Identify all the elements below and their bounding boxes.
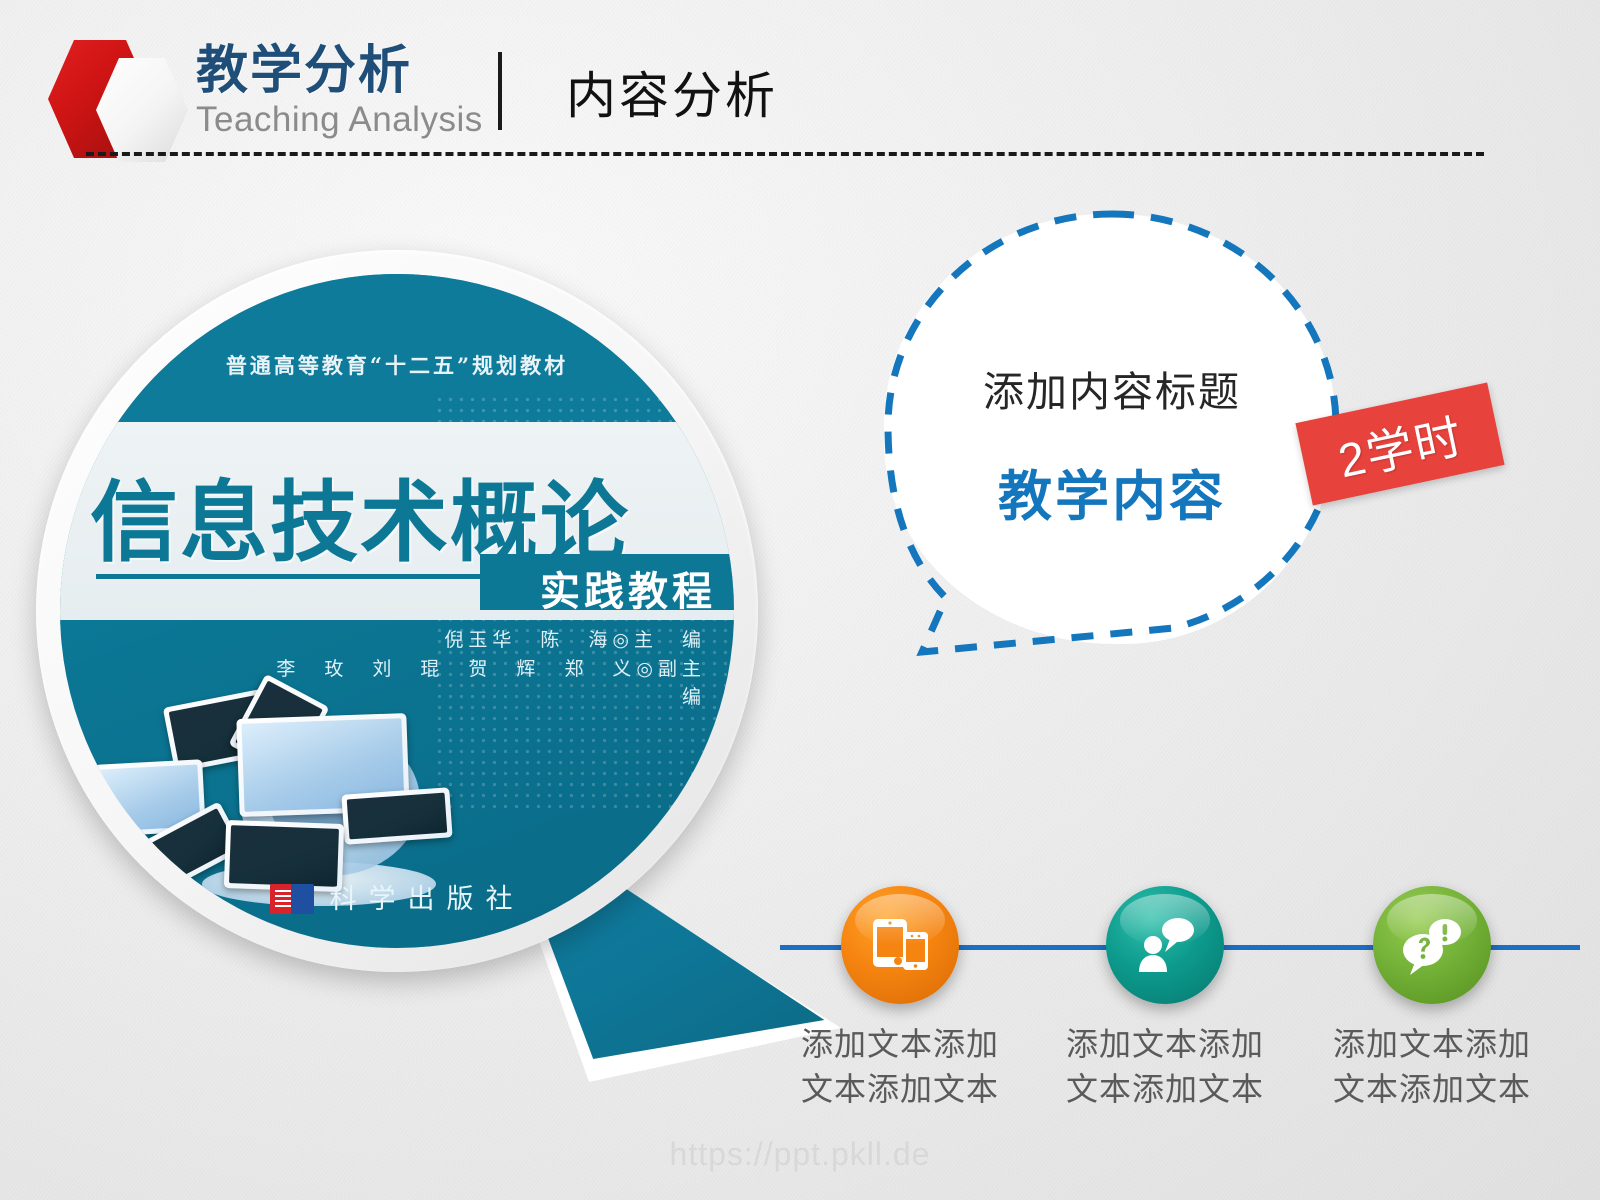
feature-label-1-line1: 添加文本添加 bbox=[780, 1022, 1020, 1067]
bubble-main-text: 教学内容 bbox=[862, 452, 1362, 531]
question-exclaim-bubbles-icon[interactable] bbox=[1373, 886, 1491, 1004]
slide-canvas: 教学分析 Teaching Analysis 内容分析 普通高等教育“十二五”规… bbox=[0, 0, 1600, 1200]
hours-badge-label: 2学时 bbox=[1331, 397, 1469, 491]
book-publisher: 科学出版社 bbox=[330, 884, 525, 915]
cover-artwork bbox=[90, 674, 520, 904]
book-cover-image: 普通高等教育“十二五”规划教材 信息技术概论 实践教程 倪玉华 陈 海◎主 编 … bbox=[60, 274, 734, 948]
brand-title-en: Teaching Analysis bbox=[196, 101, 483, 140]
devices-icon[interactable] bbox=[841, 886, 959, 1004]
person-speech-glyph bbox=[1132, 912, 1198, 978]
feature-label-3-line1: 添加文本添加 bbox=[1312, 1022, 1552, 1067]
slide-header: 教学分析 Teaching Analysis 内容分析 bbox=[0, 0, 1600, 170]
header-divider bbox=[498, 52, 502, 130]
feature-item-3[interactable]: 添加文本添加 文本添加文本 bbox=[1312, 886, 1552, 1113]
feature-item-2[interactable]: 添加文本添加 文本添加文本 bbox=[1045, 886, 1285, 1113]
page-title: 内容分析 bbox=[566, 56, 778, 128]
watermark: https://ppt.pkll.de bbox=[0, 1136, 1600, 1173]
book-bubble: 普通高等教育“十二五”规划教材 信息技术概论 实践教程 倪玉华 陈 海◎主 编 … bbox=[36, 250, 798, 1012]
feature-label-3-line2: 文本添加文本 bbox=[1312, 1067, 1552, 1112]
question-exclaim-glyph bbox=[1397, 912, 1467, 978]
brand-block: 教学分析 Teaching Analysis bbox=[196, 44, 483, 139]
feature-label-1: 添加文本添加 文本添加文本 bbox=[780, 1022, 1020, 1113]
bubble-dashed-outline bbox=[862, 200, 1362, 680]
tablet-icon bbox=[341, 787, 452, 844]
person-speech-icon[interactable] bbox=[1106, 886, 1224, 1004]
publisher-logo-icon bbox=[270, 884, 314, 914]
feature-label-3: 添加文本添加 文本添加文本 bbox=[1312, 1022, 1552, 1113]
book-cover-bg: 普通高等教育“十二五”规划教材 信息技术概论 实践教程 倪玉华 陈 海◎主 编 … bbox=[60, 274, 734, 948]
book-publisher-row: 科学出版社 bbox=[60, 877, 734, 916]
hexagon-logo bbox=[44, 32, 196, 182]
content-speech-bubble: 添加内容标题 教学内容 bbox=[862, 200, 1362, 680]
feature-label-1-line2: 文本添加文本 bbox=[780, 1067, 1020, 1112]
feature-label-2-line1: 添加文本添加 bbox=[1045, 1022, 1285, 1067]
header-dashed-rule bbox=[86, 152, 1484, 156]
book-subtitle: 实践教程 bbox=[488, 559, 734, 617]
feature-label-2-line2: 文本添加文本 bbox=[1045, 1067, 1285, 1112]
devices-glyph bbox=[867, 912, 933, 978]
feature-label-2: 添加文本添加 文本添加文本 bbox=[1045, 1022, 1285, 1113]
book-authors-line1: 倪玉华 陈 海◎主 编 bbox=[276, 626, 706, 655]
brand-title-cn: 教学分析 bbox=[196, 44, 483, 99]
book-series-line: 普通高等教育“十二五”规划教材 bbox=[60, 350, 734, 380]
bubble-title: 添加内容标题 bbox=[862, 358, 1362, 418]
feature-item-1[interactable]: 添加文本添加 文本添加文本 bbox=[780, 886, 1020, 1113]
book-title-rule bbox=[96, 574, 496, 579]
